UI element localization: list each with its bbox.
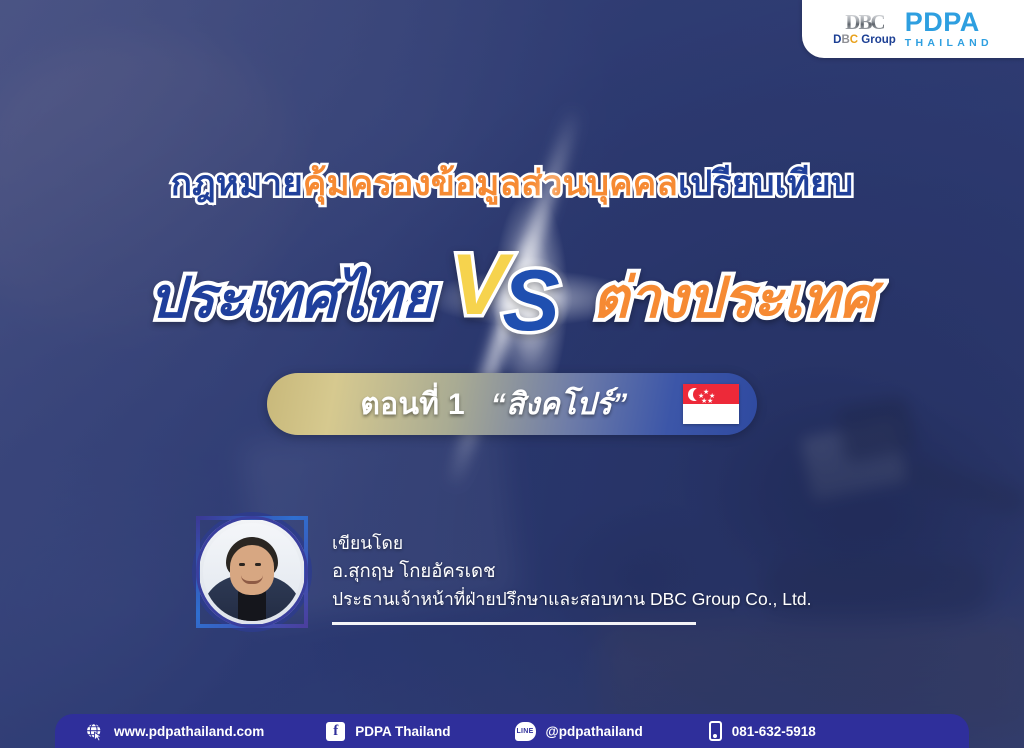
page-title: กฎหมายคุ้มครองข้อมูลส่วนบุคคลเปรียบเทียบ — [0, 166, 1024, 201]
globe-icon — [85, 722, 104, 741]
episode-country-label: “สิงคโปร์” — [491, 388, 628, 421]
headline-part-pdpa: คุ้มครองข้อมูลส่วนบุคคล — [303, 164, 678, 203]
footer-item-phone[interactable]: 081-632-5918 — [709, 721, 816, 741]
country-thailand-label: ประเทศไทย — [149, 270, 434, 326]
footer-line-label: @pdpathailand — [546, 724, 643, 739]
episode-number-label: ตอนที่ 1 — [360, 388, 465, 421]
contact-footer-bar: www.pdpathailand.com f PDPA Thailand LIN… — [55, 714, 969, 748]
headline-part-compare: เปรียบเทียบ — [678, 164, 853, 203]
country-foreign-label: ต่างประเทศ — [592, 270, 874, 326]
pdpa-thailand-subtext: THAILAND — [905, 38, 993, 49]
headline-part-law: กฎหมาย — [171, 164, 303, 203]
facebook-icon: f — [326, 722, 345, 741]
pdpa-thailand-logo: PDPA THAILAND — [905, 9, 993, 49]
footer-item-line[interactable]: LINE @pdpathailand — [515, 722, 643, 741]
footer-facebook-label: PDPA Thailand — [355, 724, 450, 739]
flag-star-5: ★ — [698, 393, 704, 400]
dbc-letter-c: C — [850, 34, 858, 46]
author-name: อ.สุกฤษ โกยอัครเดช — [332, 557, 811, 586]
dbc-group-wordmark: DBC Group — [833, 35, 896, 47]
pdpa-wordmark: PDPA — [905, 9, 993, 36]
episode-badge: ตอนที่ 1 “สิงคโปร์” ★ ★ ★ ★ ★ — [267, 373, 757, 435]
avatar — [196, 516, 308, 628]
flag-star-3: ★ — [707, 398, 713, 405]
avatar-face — [230, 545, 274, 595]
avatar-eye-right — [255, 563, 261, 566]
author-divider — [332, 622, 696, 625]
versus-row: ประเทศไทย V S ต่างประเทศ — [0, 246, 1024, 350]
singapore-flag-icon: ★ ★ ★ ★ ★ — [683, 384, 739, 424]
author-written-by: เขียนโดย — [332, 530, 811, 557]
footer-item-facebook[interactable]: f PDPA Thailand — [326, 722, 450, 741]
footer-item-website[interactable]: www.pdpathailand.com — [85, 722, 264, 741]
phone-icon — [709, 721, 722, 741]
dbc-group-logo: DBC DBC Group — [833, 12, 896, 47]
author-title: ประธานเจ้าหน้าที่ฝ่ายปรึกษาและสอบทาน DBC… — [332, 586, 811, 613]
footer-phone-label: 081-632-5918 — [732, 724, 816, 739]
dbc-word-group: Group — [858, 34, 896, 46]
versus-letter-v: V — [450, 242, 507, 328]
author-details: เขียนโดย อ.สุกฤษ โกยอัครเดช ประธานเจ้าหน… — [332, 516, 811, 625]
poster-canvas: DBC DBC Group PDPA THAILAND กฎหมายคุ้มคร… — [0, 0, 1024, 748]
author-block: เขียนโดย อ.สุกฤษ โกยอัครเดช ประธานเจ้าหน… — [196, 516, 811, 628]
line-icon: LINE — [515, 722, 536, 741]
episode-badge-text: ตอนที่ 1 “สิงคโปร์” — [267, 381, 683, 428]
versus-badge: V S — [444, 246, 584, 350]
dbc-letter-b: B — [841, 34, 849, 46]
avatar-eye-left — [239, 563, 245, 566]
dbc-monogram-icon: DBC — [845, 12, 883, 33]
footer-website-label: www.pdpathailand.com — [114, 724, 264, 739]
versus-letter-s: S — [502, 258, 559, 344]
brand-logo-panel: DBC DBC Group PDPA THAILAND — [802, 0, 1024, 58]
avatar-image — [203, 523, 301, 621]
